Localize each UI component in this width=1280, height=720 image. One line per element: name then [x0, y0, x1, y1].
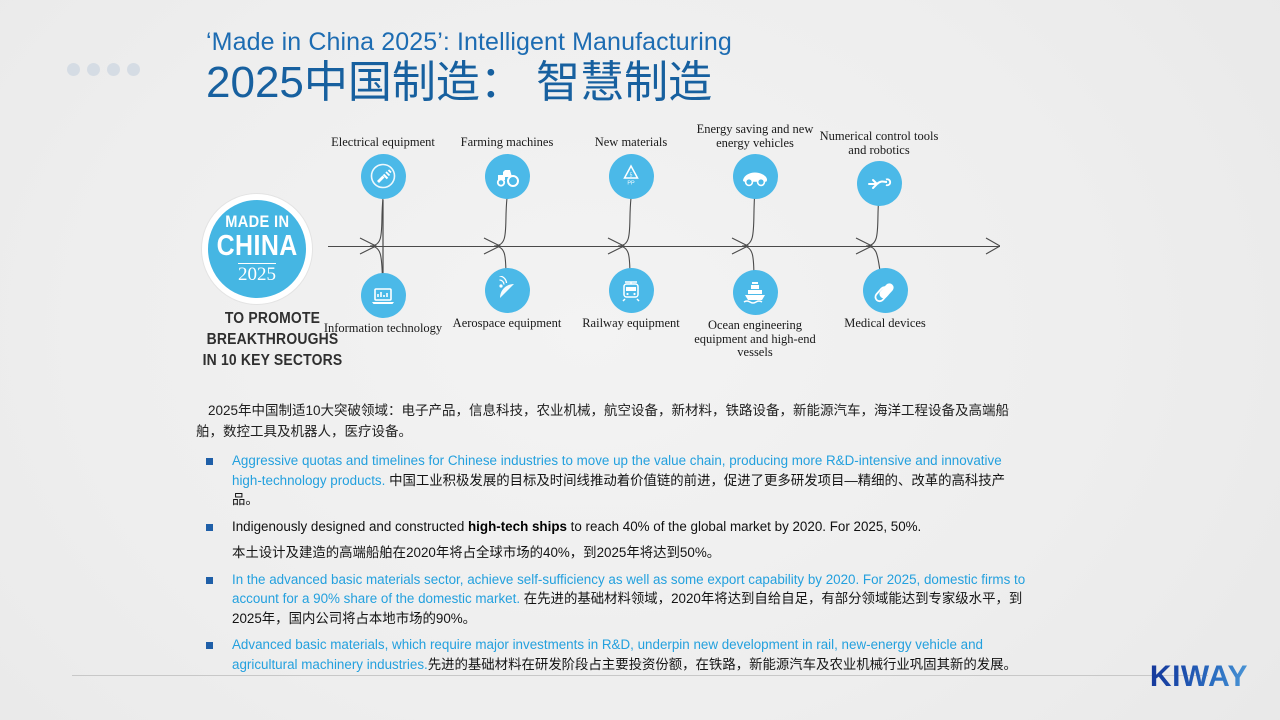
bullet-text: Indigenously designed and constructed hi… [232, 517, 1030, 563]
train-icon [609, 268, 654, 313]
satellite-dish-icon [485, 268, 530, 313]
bullet-chinese: 本土设计及建造的高端船舶在2020年将占全球市场的40%，到2025年将达到50… [232, 543, 1030, 563]
slide-title-english: ‘Made in China 2025’: Intelligent Manufa… [206, 26, 732, 58]
bullet-item: Aggressive quotas and timelines for Chin… [196, 451, 1030, 510]
bullet-chinese: 先进的基础材料在研发阶段占主要投资份额，在铁路，新能源汽车及农业机械行业巩固其新… [428, 657, 1017, 672]
recycle-pp-icon: 5 PP [609, 154, 654, 199]
body-text: 2025年中国制适10大突破领域：电子产品，信息科技，农业机械，航空设备，新材料… [196, 400, 1030, 681]
bullet-item: Advanced basic materials, which require … [196, 635, 1030, 674]
bullet-item: Indigenously designed and constructed hi… [196, 517, 1030, 563]
sector-node-numerical-control-robotics[interactable]: Numerical control tools and robotics [814, 130, 944, 206]
laptop-chart-icon [361, 273, 406, 318]
bullet-text: Advanced basic materials, which require … [232, 635, 1030, 674]
ship-icon [733, 270, 778, 315]
pills-icon [863, 268, 908, 313]
infographic: MADE IN CHINA 2025 TO PROMOTE BREAKTHROU… [200, 118, 1000, 383]
svg-text:PP: PP [627, 181, 635, 187]
bullet-text: In the advanced basic materials sector, … [232, 570, 1030, 629]
badge-tagline-line-2: IN 10 KEY SECTORS [194, 350, 352, 371]
sector-label: New materials [566, 136, 696, 150]
badge-line-1: MADE IN [225, 212, 289, 232]
sector-node-energy-vehicles[interactable]: Energy saving and new energy vehicles [690, 123, 820, 199]
sector-node-railway-equipment[interactable]: Railway equipment [566, 268, 696, 331]
bullet-item: In the advanced basic materials sector, … [196, 570, 1030, 629]
sector-label: Information technology [318, 322, 448, 336]
car-icon [733, 154, 778, 199]
sector-label: Electrical equipment [318, 136, 448, 150]
sector-label: Energy saving and new energy vehicles [690, 123, 820, 150]
made-in-china-badge: MADE IN CHINA 2025 [202, 194, 312, 304]
sector-label: Medical devices [820, 317, 950, 331]
sector-node-information-technology[interactable]: Information technology [318, 273, 448, 336]
bullet-english-post: to reach 40% of the global market by 202… [567, 519, 921, 534]
title-block: ‘Made in China 2025’: Intelligent Manufa… [206, 26, 732, 110]
sector-label: Ocean engineering equipment and high-end… [690, 319, 820, 360]
bullet-english-pre: Indigenously designed and constructed [232, 519, 468, 534]
sector-node-farming-machines[interactable]: Farming machines [442, 136, 572, 199]
power-plug-icon [361, 154, 406, 199]
footer-divider [72, 675, 1208, 676]
robot-arm-icon [857, 161, 902, 206]
sector-label: Aerospace equipment [442, 317, 572, 331]
badge-line-2: CHINA [216, 232, 297, 261]
sector-label: Railway equipment [566, 317, 696, 331]
decorative-dot [87, 63, 100, 76]
kiway-logo: KIWAY [1150, 660, 1248, 694]
sector-label: Farming machines [442, 136, 572, 150]
svg-text:5: 5 [630, 173, 633, 179]
sector-label: Numerical control tools and robotics [814, 130, 944, 157]
badge-line-3: 2025 [238, 263, 276, 286]
bullet-marker [206, 642, 213, 649]
decorative-dot [107, 63, 120, 76]
sector-node-medical-devices[interactable]: Medical devices [820, 268, 950, 331]
sector-node-aerospace-equipment[interactable]: Aerospace equipment [442, 268, 572, 331]
slide-title-chinese: 2025中国制造： 智慧制造 [206, 56, 732, 110]
tractor-icon [485, 154, 530, 199]
slide-canvas: ‘Made in China 2025’: Intelligent Manufa… [0, 0, 1280, 720]
sector-node-electrical-equipment[interactable]: Electrical equipment [318, 136, 448, 199]
bullet-text: Aggressive quotas and timelines for Chin… [232, 451, 1030, 510]
bullet-marker [206, 458, 213, 465]
sector-node-ocean-engineering[interactable]: Ocean engineering equipment and high-end… [690, 270, 820, 360]
sector-node-new-materials[interactable]: New materials 5 PP [566, 136, 696, 199]
bullet-english-bold: high-tech ships [468, 519, 567, 534]
bullet-marker [206, 524, 213, 531]
bullet-marker [206, 577, 213, 584]
intro-paragraph-chinese: 2025年中国制适10大突破领域：电子产品，信息科技，农业机械，航空设备，新材料… [196, 400, 1030, 442]
decorative-dot [127, 63, 140, 76]
infographic-spine [328, 246, 1000, 247]
decorative-dots [67, 63, 140, 76]
decorative-dot [67, 63, 80, 76]
